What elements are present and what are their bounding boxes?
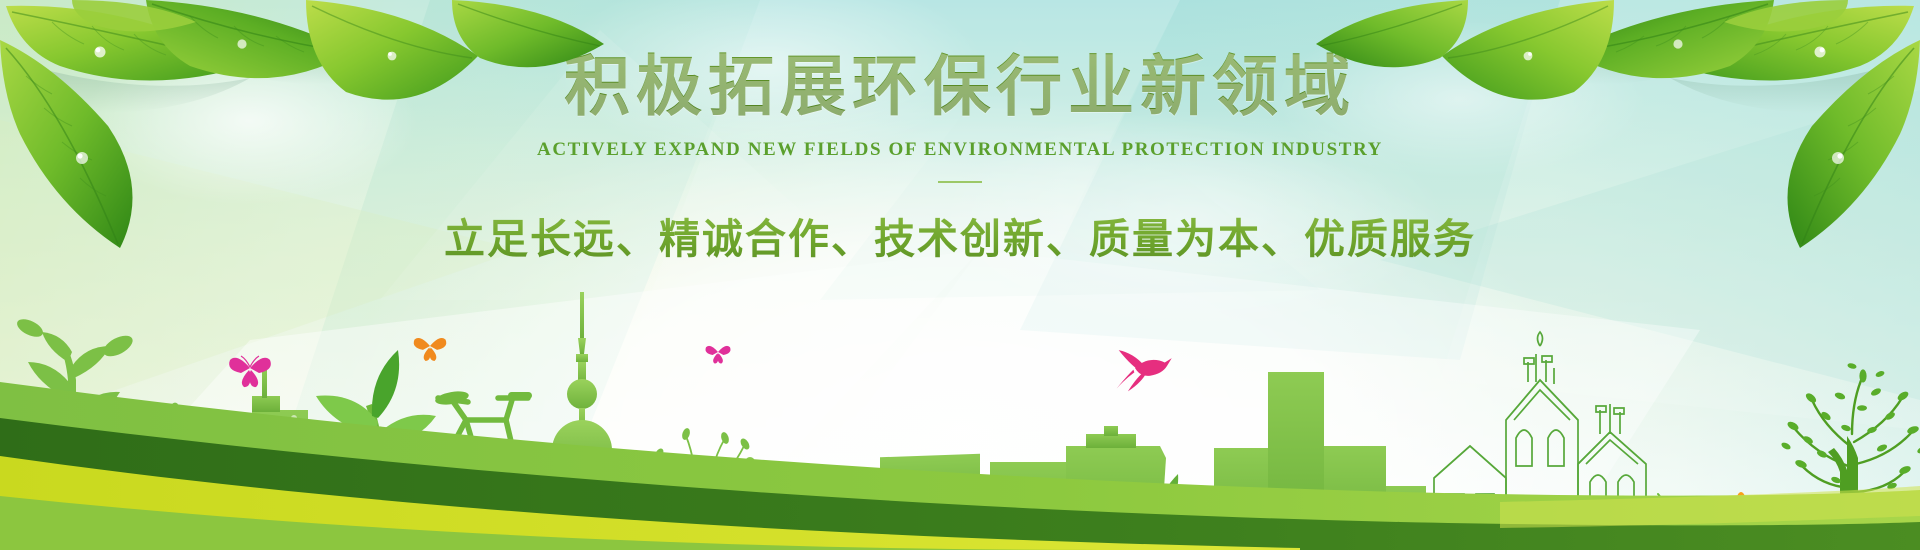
title-divider: [938, 181, 982, 183]
leaf-4: [306, 0, 478, 100]
eco-banner: 积极拓展环保行业新领域 ACTIVELY EXPAND NEW FIELDS O…: [0, 0, 1920, 550]
wave-bands: [0, 320, 1920, 550]
leaf-cluster-top-right: [1220, 0, 1920, 250]
leaf-cluster-top-left: [0, 0, 700, 250]
leaf-4-mirrored: [1442, 0, 1614, 100]
